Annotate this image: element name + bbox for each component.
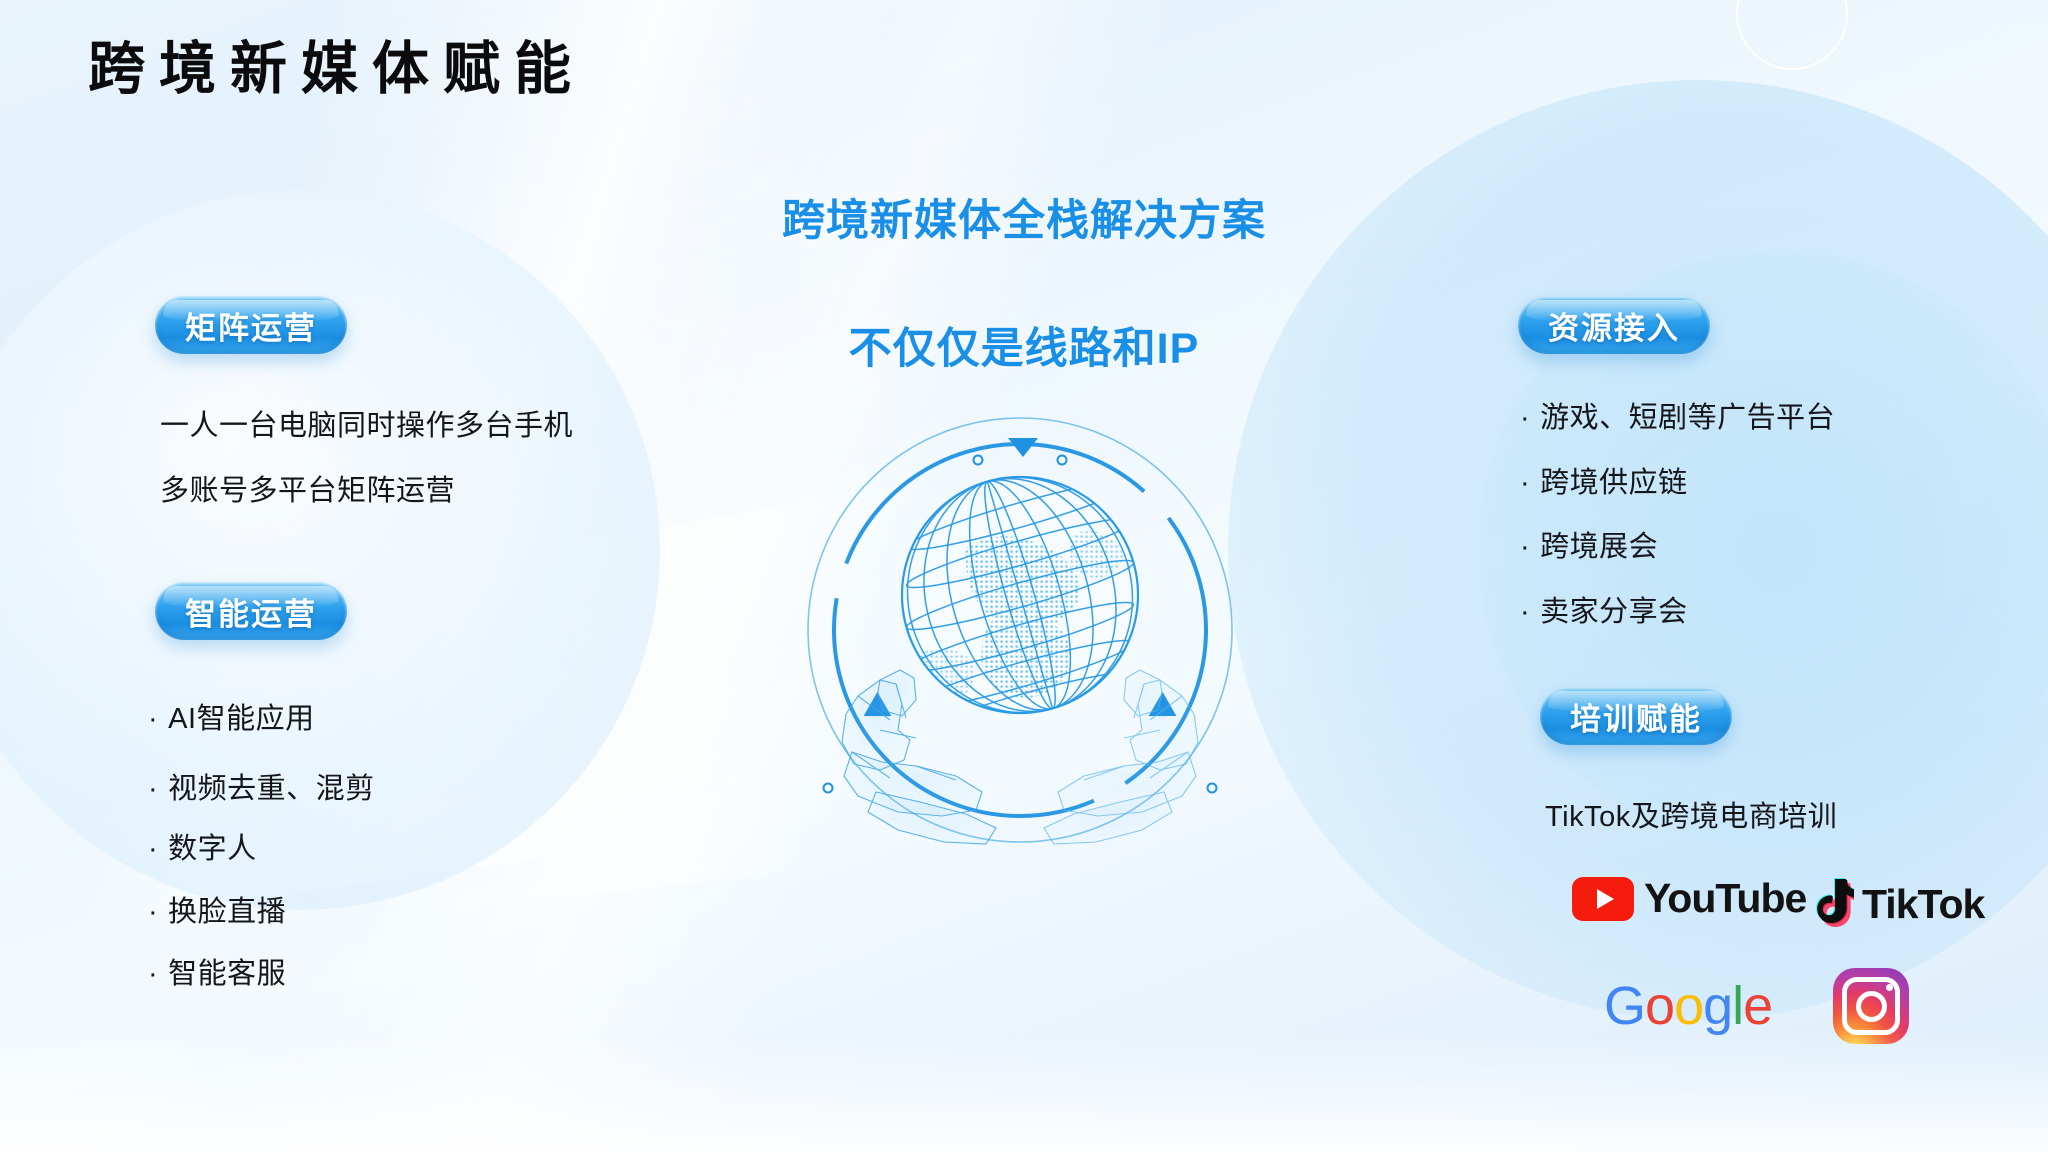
google-letter-o2: o [1674,976,1703,1036]
tiktok-wordmark: TikTok [1862,881,1984,928]
left-bullet-digital-human: ·数字人 [148,825,257,867]
google-letter-e: e [1743,976,1772,1036]
left-bullet-video: ·视频去重、混剪 [148,765,375,807]
badge-resource-access[interactable]: 资源接入 [1518,296,1710,354]
right-bullet-supply-chain: ·跨境供应链 [1520,459,1688,501]
bullet-dot: · [148,833,158,865]
bullet-dot: · [148,896,158,928]
decorative-ring [1736,0,1848,70]
bullet-dot: · [1520,467,1530,499]
badge-label: 矩阵运营 [185,303,317,348]
google-letter-l: l [1732,976,1743,1036]
right-text-training: TikTok及跨境电商培训 [1545,793,1837,835]
bullet-dot: · [1520,596,1530,628]
bullet-text: 视频去重、混剪 [168,773,375,805]
left-text-matrix-2: 多账号多平台矩阵运营 [160,467,455,509]
bullet-dot: · [1520,402,1530,434]
badge-matrix-operations[interactable]: 矩阵运营 [155,296,347,354]
google-letter-g1: G [1604,976,1645,1036]
bullet-text: 数字人 [168,833,257,865]
left-text-matrix-1: 一人一台电脑同时操作多台手机 [160,402,573,444]
center-heading-secondary: 不仅仅是线路和IP [849,314,1200,376]
google-letter-g2: g [1703,976,1732,1036]
badge-label: 培训赋能 [1570,694,1702,739]
google-logo[interactable]: Google [1604,975,1772,1037]
bullet-text: 游戏、短剧等广告平台 [1540,402,1835,434]
left-bullet-ai: ·AI智能应用 [148,695,315,737]
slide-canvas: 跨境新媒体赋能 跨境新媒体全栈解决方案 不仅仅是线路和IP 矩阵运营 一人一台电… [0,0,2048,1152]
left-bullet-face-swap-live: ·换脸直播 [148,888,286,930]
tiktok-note-icon [1808,878,1854,930]
bullet-text: 跨境展会 [1540,531,1658,563]
bullet-text: 跨境供应链 [1540,467,1688,499]
bullet-dot: · [148,703,158,735]
youtube-wordmark: YouTube [1644,875,1806,922]
bottom-fade-overlay [0,1032,2048,1152]
right-bullet-ad-platforms: ·游戏、短剧等广告平台 [1520,394,1835,436]
tiktok-logo[interactable]: TikTok [1808,878,1984,930]
bullet-text: 换脸直播 [168,896,286,928]
globe-in-hands-illustration [790,400,1250,860]
center-heading-primary: 跨境新媒体全栈解决方案 [782,186,1266,248]
badge-label: 资源接入 [1548,303,1680,348]
bullet-text: 智能客服 [168,958,286,990]
left-bullet-smart-service: ·智能客服 [148,950,286,992]
right-bullet-seller-sharing: ·卖家分享会 [1520,588,1688,630]
youtube-logo[interactable]: YouTube [1572,875,1806,922]
google-wordmark: Google [1604,975,1772,1037]
bullet-dot: · [148,773,158,805]
bullet-dot: · [148,958,158,990]
wireframe-globe [880,451,1160,751]
page-title: 跨境新媒体赋能 [88,38,585,101]
youtube-play-icon [1572,877,1634,921]
right-bullet-expo: ·跨境展会 [1520,523,1658,565]
bullet-dot: · [1520,531,1530,563]
badge-smart-operations[interactable]: 智能运营 [155,582,347,640]
badge-label: 智能运营 [185,589,317,634]
bullet-text: AI智能应用 [168,703,314,735]
badge-training-empowerment[interactable]: 培训赋能 [1540,687,1732,745]
google-letter-o1: o [1645,976,1674,1036]
bullet-text: 卖家分享会 [1540,596,1688,628]
